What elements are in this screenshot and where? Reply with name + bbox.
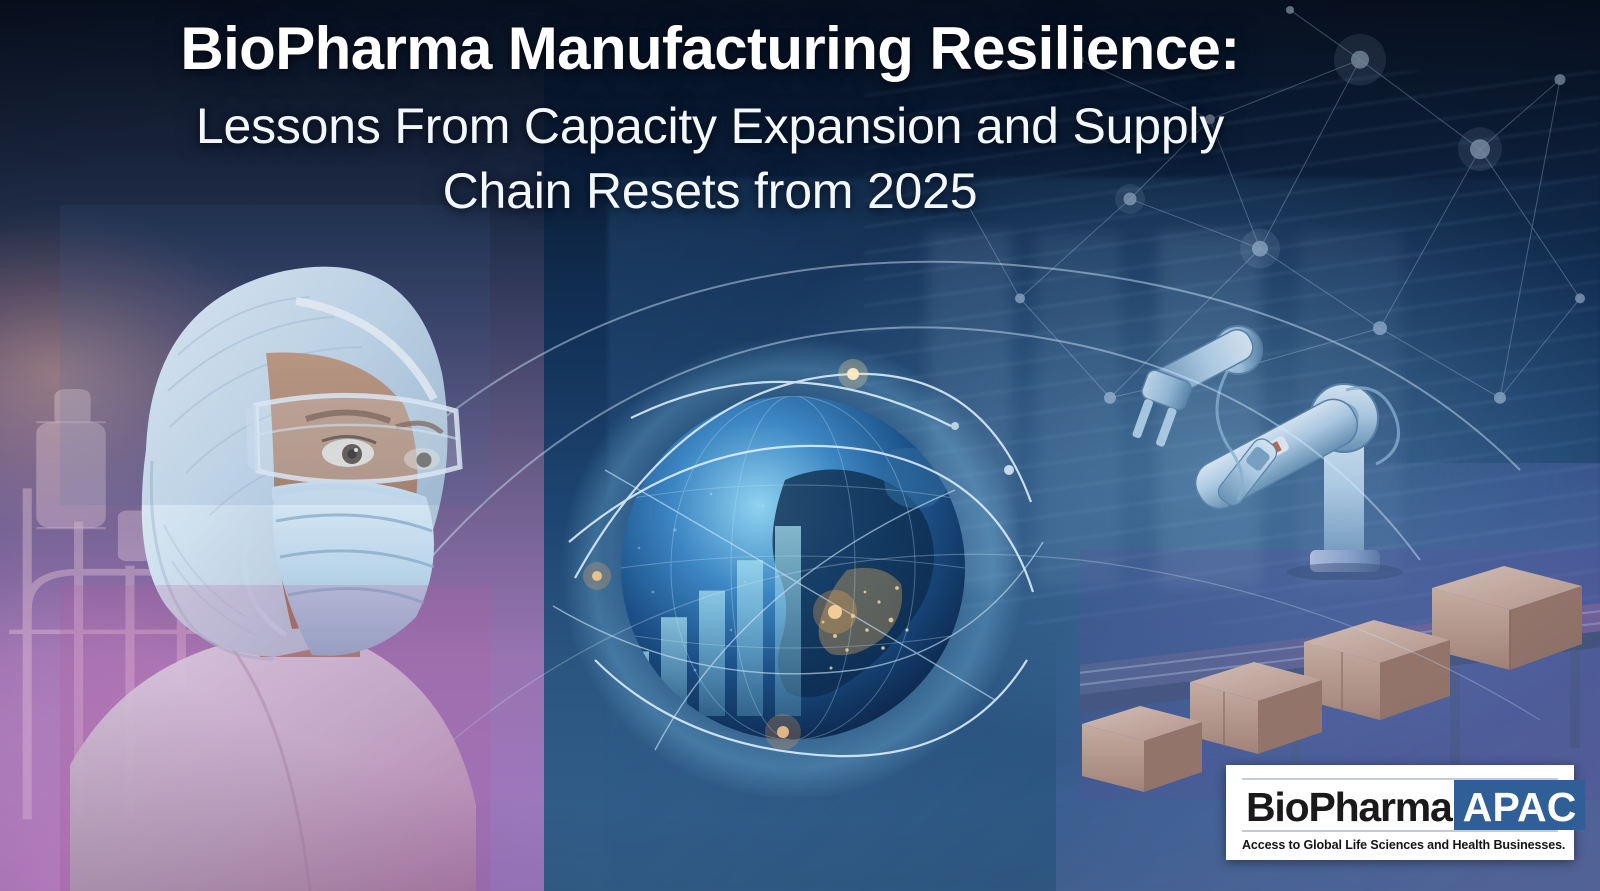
logo-brand-secondary: APAC [1454,780,1585,830]
headline-line-3: Chain Resets from 2025 [0,161,1420,222]
connected-globe-icon [535,330,1055,810]
conveyor-with-boxes-icon [1080,470,1600,800]
logo-wordmark: BioPharma APAC [1242,778,1558,832]
logo-brand-primary: BioPharma [1242,780,1454,830]
scientist-figure [60,205,490,891]
promotional-banner: BioPharma Manufacturing Resilience: Less… [0,0,1600,891]
headline-block: BioPharma Manufacturing Resilience: Less… [0,18,1420,222]
chart-bar [775,526,801,716]
headline-line-1: BioPharma Manufacturing Resilience: [0,18,1420,80]
biopharma-apac-logo[interactable]: BioPharma APAC Access to Global Life Sci… [1226,765,1574,860]
logo-tagline: Access to Global Life Sciences and Healt… [1242,838,1558,852]
headline-line-2: Lessons From Capacity Expansion and Supp… [0,96,1420,157]
